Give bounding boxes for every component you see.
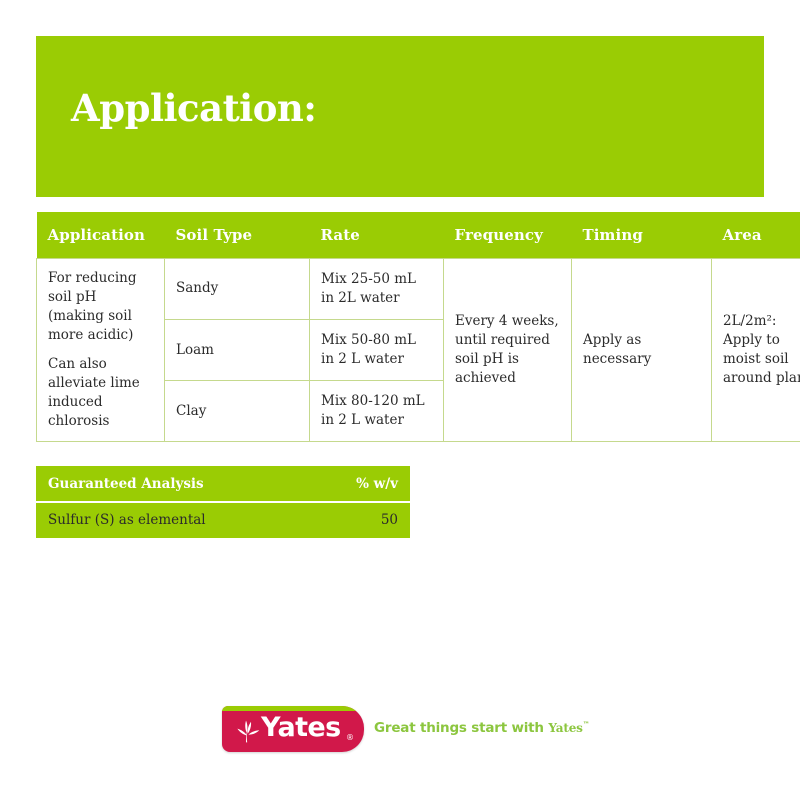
table-header-row: Application Soil Type Rate Frequency Tim… <box>37 212 800 259</box>
application-table: Application Soil Type Rate Frequency Tim… <box>36 212 800 442</box>
guaranteed-analysis-table: Guaranteed Analysis % w/v Sulfur (S) as … <box>36 466 410 538</box>
trademark-symbol: ™ <box>583 721 590 729</box>
analysis-row: Sulfur (S) as elemental 50 <box>36 502 410 538</box>
cell-rate-loam: Mix 50-80 mL in 2 L water <box>310 320 444 381</box>
application-description-paragraph-2: Can also alleviate lime induced chlorosi… <box>48 355 153 432</box>
analysis-nutrient-value: 50 <box>298 502 410 538</box>
guaranteed-analysis-head: Guaranteed Analysis % w/v <box>36 466 410 502</box>
analysis-header-label: Guaranteed Analysis <box>36 466 298 502</box>
guaranteed-analysis-body: Sulfur (S) as elemental 50 <box>36 502 410 538</box>
tagline-brand-name: Yates <box>548 721 582 735</box>
cell-application-description: For reducing soil pH (making soil more a… <box>37 259 165 442</box>
analysis-nutrient-name: Sulfur (S) as elemental <box>36 502 298 538</box>
cell-frequency: Every 4 weeks, until required soil pH is… <box>444 259 572 442</box>
column-header-application: Application <box>37 212 165 259</box>
leaf-icon <box>234 719 260 743</box>
brand-tagline: Great things start with Yates™ <box>374 720 590 736</box>
cell-timing: Apply as necessary <box>572 259 712 442</box>
footer-branding: Yates ® Great things start with Yates™ <box>222 706 582 758</box>
cell-soil-type-clay: Clay <box>165 381 310 442</box>
table-row: For reducing soil pH (making soil more a… <box>37 259 800 320</box>
cell-soil-type-sandy: Sandy <box>165 259 310 320</box>
application-title-banner: Application: <box>36 36 764 197</box>
guaranteed-analysis-container: Guaranteed Analysis % w/v Sulfur (S) as … <box>36 466 410 538</box>
logo-wordmark: Yates <box>261 714 341 741</box>
column-header-timing: Timing <box>572 212 712 259</box>
cell-rate-clay: Mix 80-120 mL in 2 L water <box>310 381 444 442</box>
page-title: Application: <box>71 88 316 129</box>
cell-soil-type-loam: Loam <box>165 320 310 381</box>
analysis-header-unit: % w/v <box>298 466 410 502</box>
column-header-soil-type: Soil Type <box>165 212 310 259</box>
analysis-header-row: Guaranteed Analysis % w/v <box>36 466 410 502</box>
application-description-paragraph-1: For reducing soil pH (making soil more a… <box>48 269 153 346</box>
application-table-body: For reducing soil pH (making soil more a… <box>37 259 800 442</box>
cell-rate-sandy: Mix 25-50 mL in 2L water <box>310 259 444 320</box>
application-table-head: Application Soil Type Rate Frequency Tim… <box>37 212 800 259</box>
application-table-container: Application Soil Type Rate Frequency Tim… <box>36 212 764 442</box>
column-header-area: Area <box>712 212 800 259</box>
cell-area: 2L/2m²: Apply to moist soil around plant <box>712 259 800 442</box>
column-header-frequency: Frequency <box>444 212 572 259</box>
logo-green-stripe <box>222 706 364 711</box>
registered-trademark-symbol: ® <box>346 733 354 742</box>
yates-logo-badge: Yates ® <box>222 706 364 752</box>
tagline-prefix: Great things start with <box>374 720 548 736</box>
column-header-rate: Rate <box>310 212 444 259</box>
